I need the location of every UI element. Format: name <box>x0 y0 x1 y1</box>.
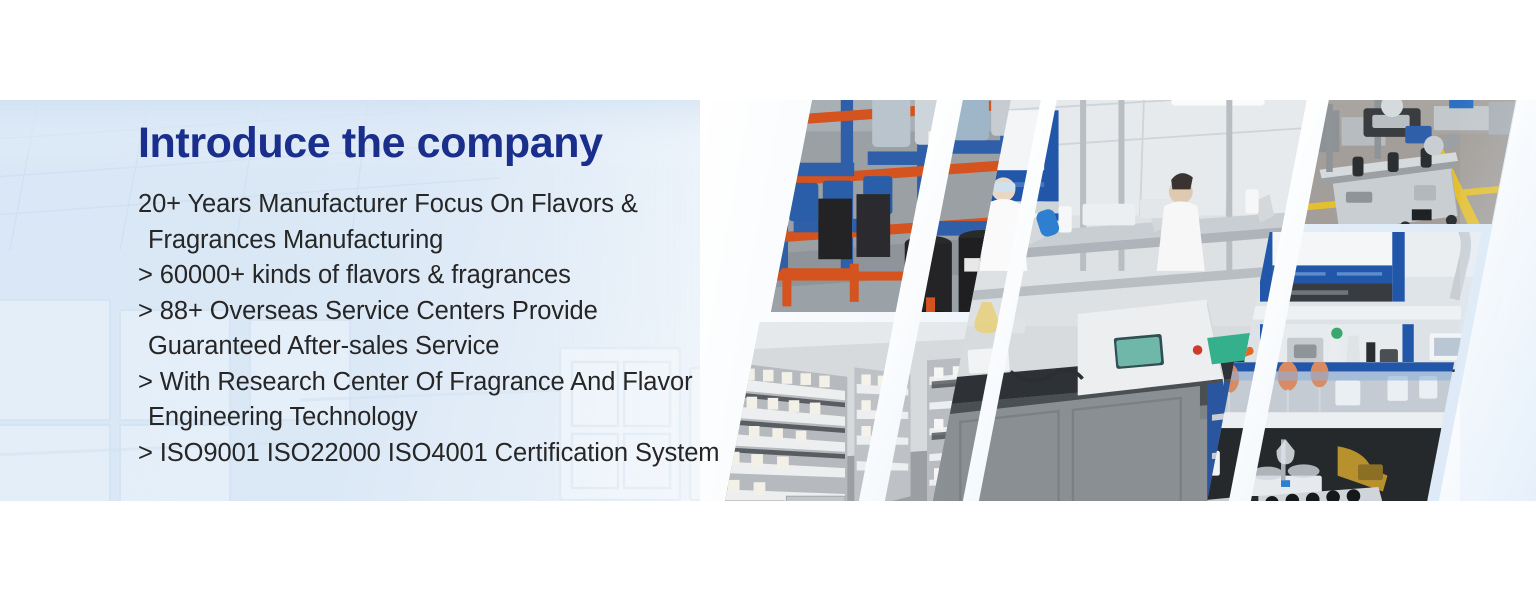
highlight-item: Guaranteed After-sales Service <box>138 329 758 365</box>
highlight-item: Fragrances Manufacturing <box>138 223 758 259</box>
factory-photo-collage <box>700 100 1536 501</box>
banner-copy-block: Introduce the company 20+ Years Manufact… <box>138 122 758 471</box>
highlight-item: > With Research Center Of Fragrance And … <box>138 365 758 401</box>
company-introduction-banner: Introduce the company 20+ Years Manufact… <box>0 100 1536 501</box>
highlight-item: > 60000+ kinds of flavors & fragrances <box>138 258 758 294</box>
highlight-item: > 88+ Overseas Service Centers Provide <box>138 294 758 330</box>
page-title: Introduce the company <box>138 122 758 165</box>
highlight-item: Engineering Technology <box>138 400 758 436</box>
company-highlights-list: 20+ Years Manufacturer Focus On Flavors … <box>138 187 758 471</box>
highlight-item: > ISO9001 ISO22000 ISO4001 Certification… <box>138 436 758 472</box>
highlight-item: 20+ Years Manufacturer Focus On Flavors … <box>138 187 758 223</box>
page-root: Introduce the company 20+ Years Manufact… <box>0 0 1536 600</box>
